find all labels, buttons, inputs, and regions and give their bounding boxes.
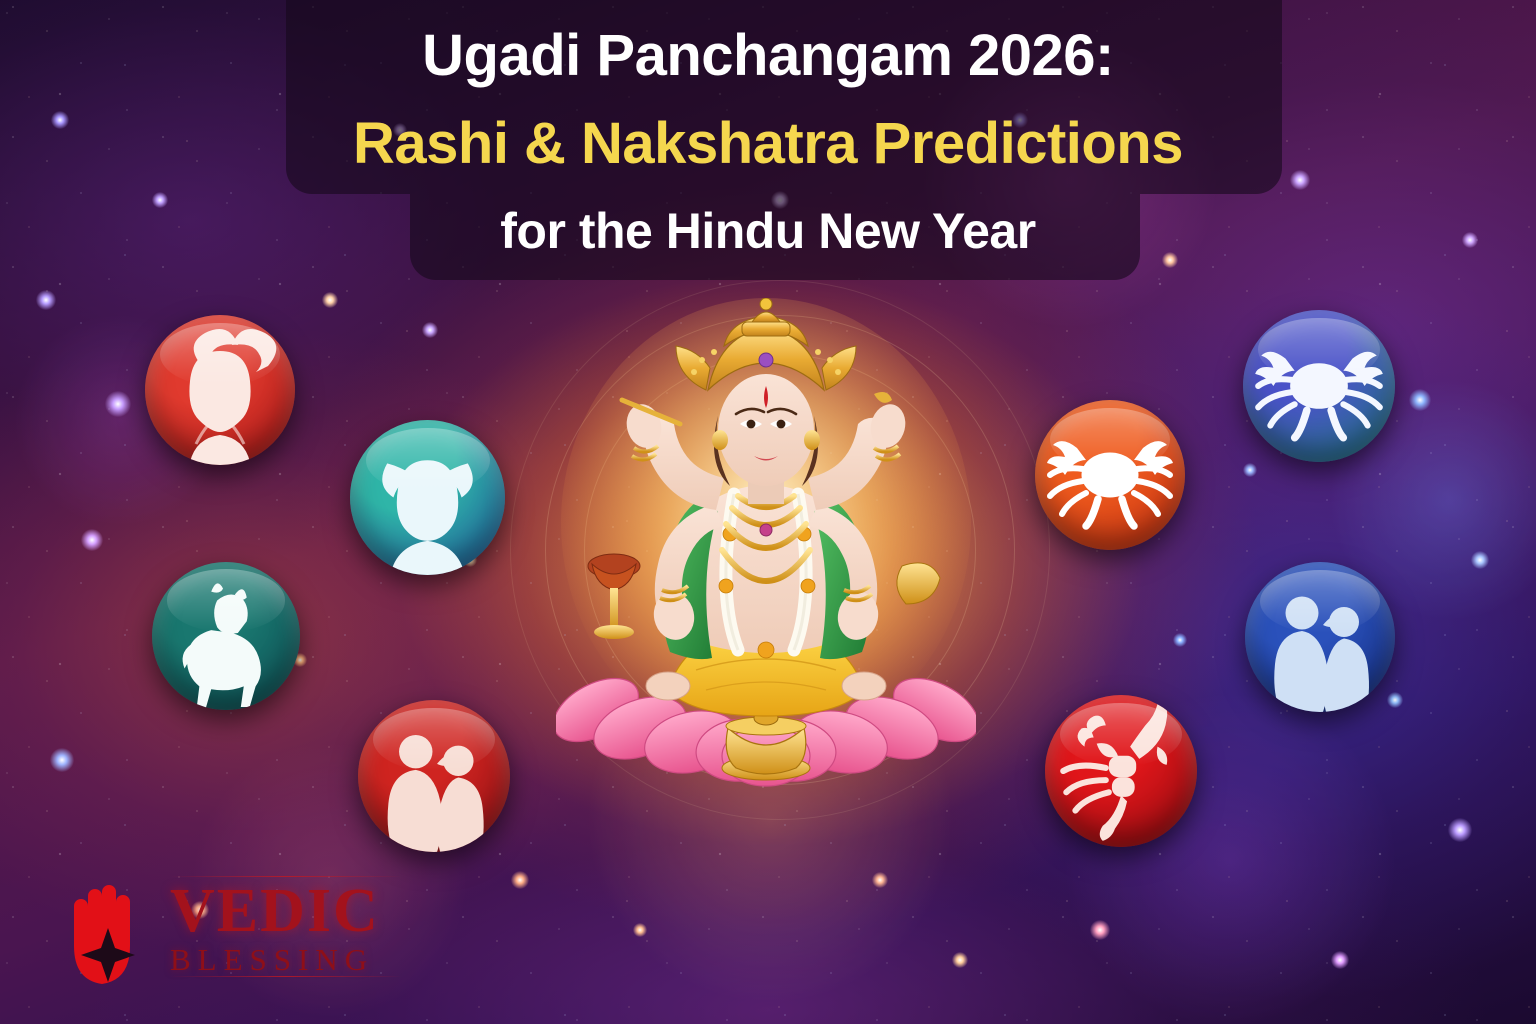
- zodiac-symbol-ram-icon: [145, 315, 295, 465]
- title-line-3: for the Hindu New Year: [0, 202, 1536, 260]
- zodiac-symbol-crab-icon: [1243, 310, 1395, 462]
- zodiac-symbol-bull-icon: [350, 420, 505, 575]
- title-line-1: Ugadi Panchangam 2026:: [0, 22, 1536, 89]
- glow-star: [1090, 920, 1110, 940]
- logo-word-vedic: VEDIC: [170, 880, 402, 942]
- glow-star: [1173, 633, 1187, 647]
- zodiac-symbol-scorpion-icon: [1045, 695, 1197, 847]
- glow-star: [511, 871, 529, 889]
- title-line-2: Rashi & Nakshatra Predictions: [0, 110, 1536, 177]
- glow-star: [952, 952, 968, 968]
- zodiac-badge-sagittarius[interactable]: [152, 562, 300, 710]
- torso: [698, 485, 834, 653]
- zodiac-badge-cancer-orange[interactable]: [1035, 400, 1185, 550]
- zodiac-badge-scorpio[interactable]: [1045, 695, 1197, 847]
- glow-star: [105, 391, 131, 417]
- glow-star: [1471, 551, 1489, 569]
- golden-pot: [722, 711, 810, 780]
- brand-logo[interactable]: VEDIC BLESSING: [52, 872, 402, 992]
- zodiac-symbol-horse-icon: [152, 562, 300, 710]
- glow-star: [1409, 389, 1431, 411]
- zodiac-symbol-twins-icon: [1245, 562, 1395, 712]
- glow-star: [422, 322, 438, 338]
- logo-word-blessing: BLESSING: [170, 944, 402, 975]
- glow-star: [1243, 463, 1257, 477]
- glow-star: [50, 748, 74, 772]
- zodiac-symbol-crab-icon: [1035, 400, 1185, 550]
- zodiac-badge-taurus[interactable]: [350, 420, 505, 575]
- glow-star: [81, 529, 103, 551]
- glow-star: [872, 872, 888, 888]
- glow-star: [633, 923, 647, 937]
- hand-with-star-icon: [52, 876, 164, 988]
- glow-star: [1331, 951, 1349, 969]
- zodiac-badge-aries[interactable]: [145, 315, 295, 465]
- zodiac-badge-gemini-left[interactable]: [358, 700, 510, 852]
- glow-star: [36, 290, 56, 310]
- zodiac-badge-gemini-right[interactable]: [1245, 562, 1395, 712]
- zodiac-badge-cancer-blue[interactable]: [1243, 310, 1395, 462]
- logo-wordmark: VEDIC BLESSING: [170, 880, 402, 984]
- glow-star: [322, 292, 338, 308]
- banner-stage: Ugadi Panchangam 2026: Rashi & Nakshatra…: [0, 0, 1536, 1024]
- zodiac-symbol-twins-icon: [358, 700, 510, 852]
- hindu-deity-illustration: [556, 298, 976, 798]
- glow-star: [1448, 818, 1472, 842]
